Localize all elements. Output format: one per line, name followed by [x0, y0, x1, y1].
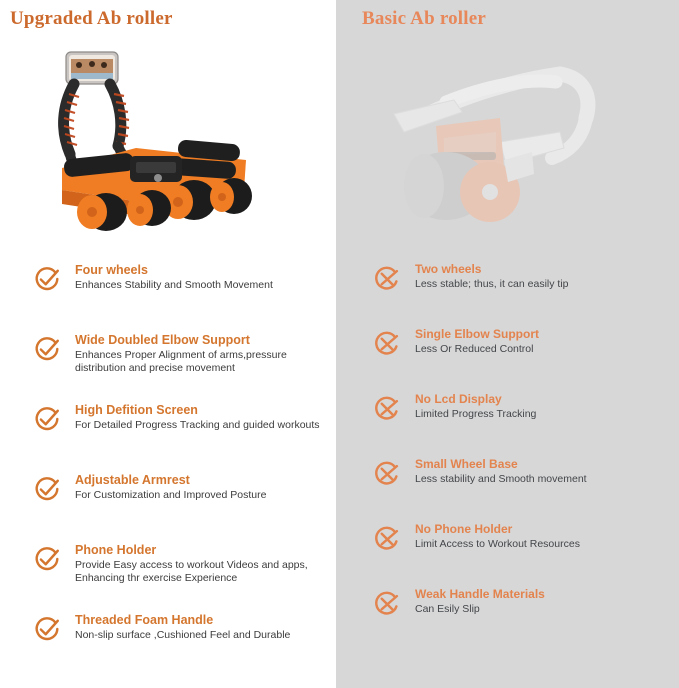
x-circle-icon [372, 264, 402, 294]
feature-title: Weak Handle Materials [415, 587, 545, 602]
x-circle-icon [372, 524, 402, 554]
feature-item: No Phone Holder Limit Access to Workout … [0, 522, 679, 587]
x-circle-icon [372, 459, 402, 489]
page-title-left: Upgraded Ab roller [10, 8, 173, 30]
feature-description: Limit Access to Workout Resources [415, 538, 580, 551]
product-image-basic [336, 44, 679, 256]
feature-text: No Phone Holder Limit Access to Workout … [402, 522, 580, 551]
basic-ab-roller-illustration [384, 56, 614, 246]
upgraded-ab-roller-illustration [48, 50, 258, 250]
feature-text: No Lcd Display Limited Progress Tracking [402, 392, 536, 421]
feature-text: Weak Handle Materials Can Esily Slip [402, 587, 545, 616]
product-image-upgraded [0, 44, 336, 256]
x-circle-icon [372, 329, 402, 359]
feature-title: Small Wheel Base [415, 457, 587, 472]
comparison-panel-basic: Basic Ab roller [336, 0, 679, 688]
product-comparison-infographic: Upgraded Ab roller [0, 0, 679, 688]
feature-item: Single Elbow Support Less Or Reduced Con… [0, 327, 679, 392]
x-circle-icon [372, 589, 402, 619]
page-title-right: Basic Ab roller [362, 8, 486, 30]
feature-item: No Lcd Display Limited Progress Tracking [0, 392, 679, 457]
feature-title: No Lcd Display [415, 392, 536, 407]
feature-list-basic: Two wheels Less stable; thus, it can eas… [336, 262, 679, 652]
feature-text: Two wheels Less stable; thus, it can eas… [402, 262, 569, 291]
feature-description: Less stable; thus, it can easily tip [415, 278, 569, 291]
feature-item: Small Wheel Base Less stability and Smoo… [0, 457, 679, 522]
feature-description: Can Esily Slip [415, 603, 545, 616]
feature-item: Two wheels Less stable; thus, it can eas… [0, 262, 679, 327]
feature-description: Less stability and Smooth movement [415, 473, 587, 486]
feature-title: No Phone Holder [415, 522, 580, 537]
feature-description: Limited Progress Tracking [415, 408, 536, 421]
x-circle-icon [372, 394, 402, 424]
feature-item: Weak Handle Materials Can Esily Slip [0, 587, 679, 652]
feature-text: Small Wheel Base Less stability and Smoo… [402, 457, 587, 486]
feature-description: Less Or Reduced Control [415, 343, 539, 356]
feature-title: Two wheels [415, 262, 569, 277]
feature-title: Single Elbow Support [415, 327, 539, 342]
feature-text: Single Elbow Support Less Or Reduced Con… [402, 327, 539, 356]
